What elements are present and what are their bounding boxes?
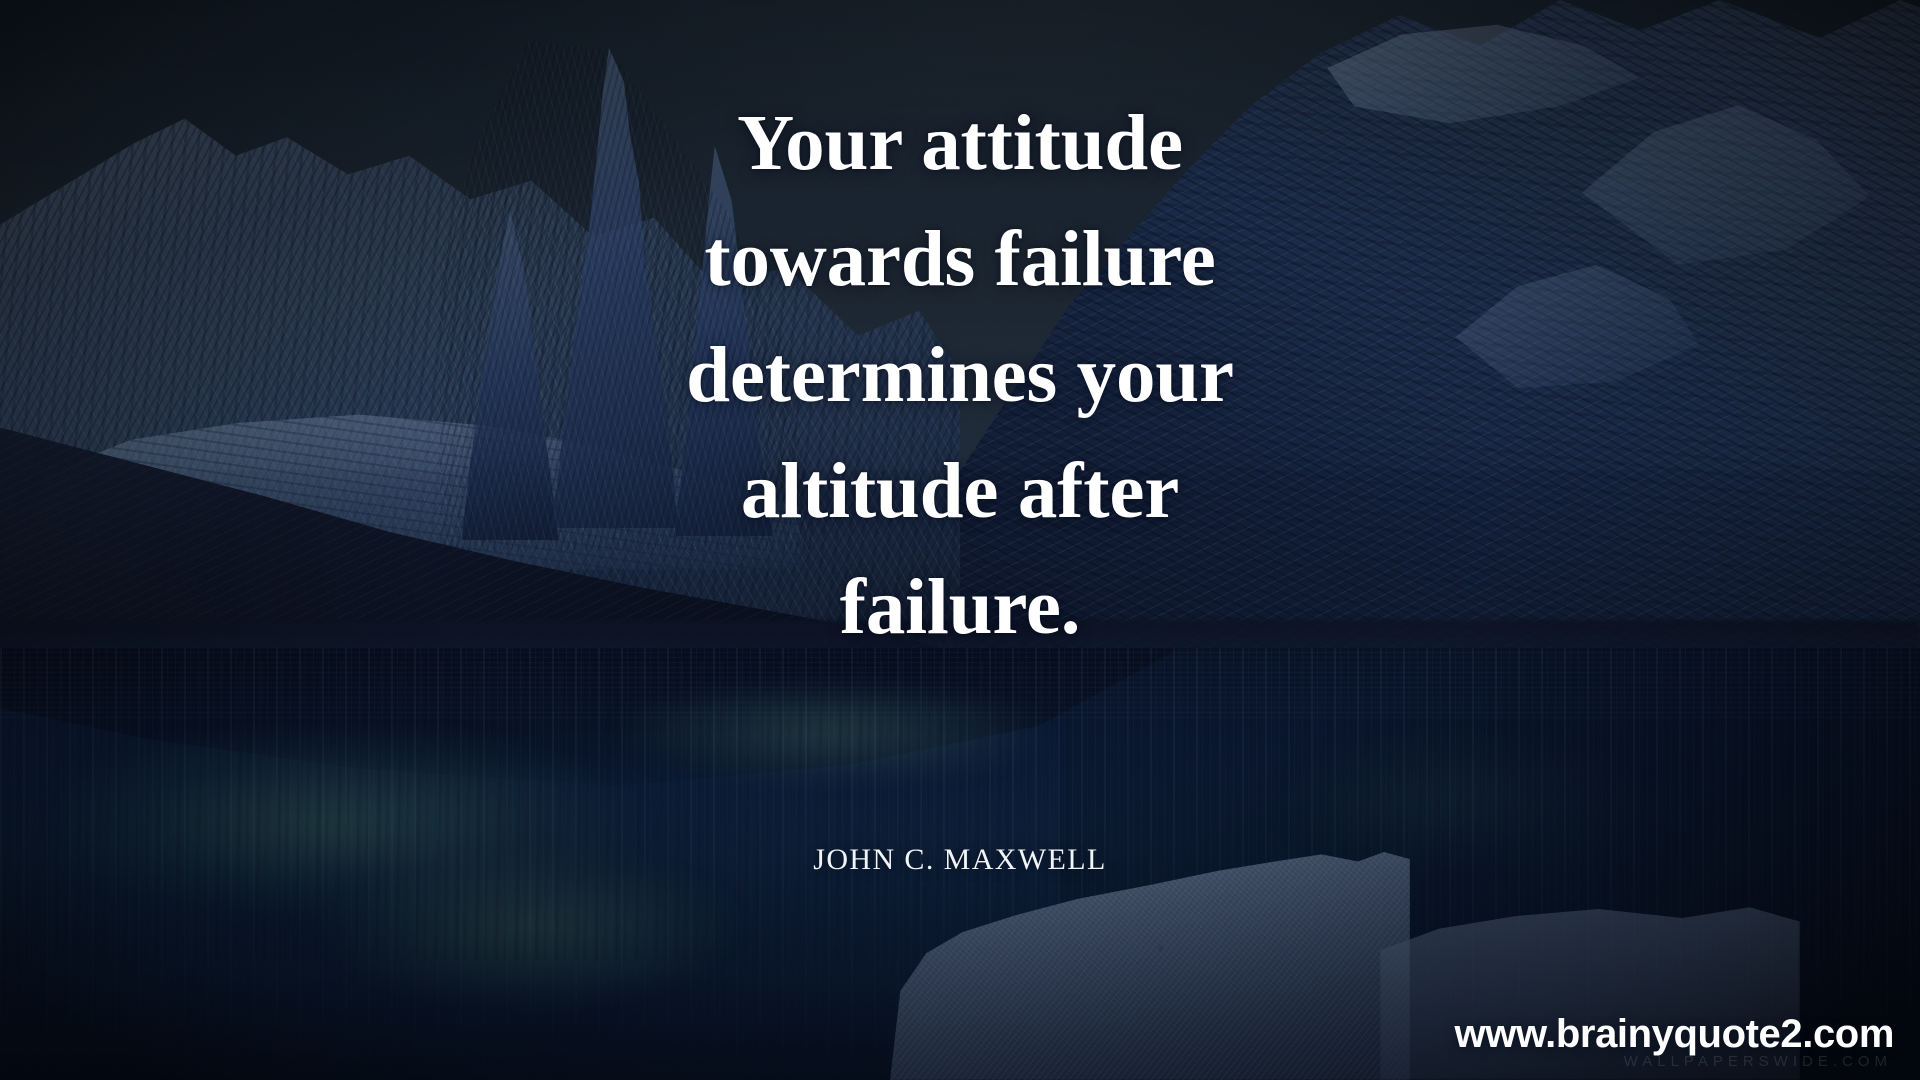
quote-line-4: altitude after [380, 434, 1540, 550]
site-url-watermark: www.brainyquote2.com [1455, 1012, 1894, 1057]
quote-line-3: determines your [380, 318, 1540, 434]
quote-line-2: towards failure [380, 202, 1540, 318]
quote-author: JOHN C. MAXWELL [0, 843, 1920, 877]
quote-text: Your attitude towards failure determines… [0, 86, 1920, 666]
source-watermark: WALLPAPERSWIDE.COM [1624, 1053, 1892, 1070]
quote-wallpaper: Your attitude towards failure determines… [0, 0, 1920, 1080]
quote-line-1: Your attitude [380, 86, 1540, 202]
text-overlay: Your attitude towards failure determines… [0, 0, 1920, 1080]
quote-line-5: failure. [380, 550, 1540, 666]
